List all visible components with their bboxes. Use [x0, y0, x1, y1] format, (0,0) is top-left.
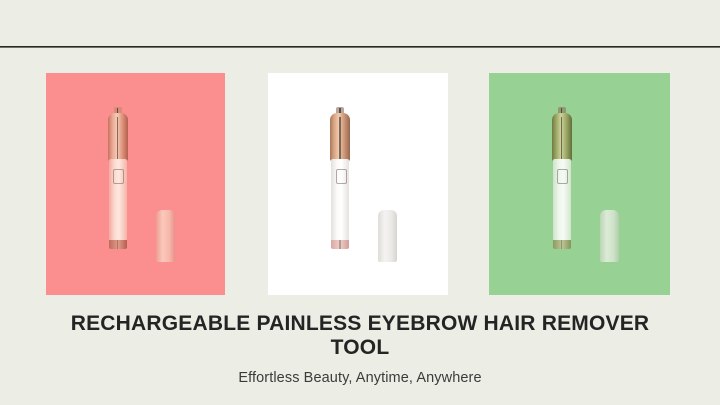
- product-panel-green[interactable]: [489, 73, 670, 295]
- power-button-icon: [557, 169, 568, 184]
- pen-body-group: [552, 107, 572, 249]
- pen-body-group: [108, 107, 128, 249]
- power-button-icon: [336, 169, 347, 184]
- page-subtitle: Effortless Beauty, Anytime, Anywhere: [0, 369, 720, 387]
- head-slit: [561, 117, 563, 159]
- header-divider: [0, 46, 720, 48]
- pen-body-group: [330, 107, 350, 249]
- eyebrow-trimmer-pen-icon: [46, 73, 225, 295]
- head-slit: [339, 117, 341, 159]
- power-button-icon: [113, 169, 124, 184]
- caption-block: RECHARGEABLE PAINLESS EYEBROW HAIR REMOV…: [0, 312, 720, 387]
- metallic-head: [330, 113, 350, 161]
- eyebrow-trimmer-pen-icon: [489, 73, 670, 295]
- trimmer-cap-icon: [156, 210, 175, 262]
- page-title: RECHARGEABLE PAINLESS EYEBROW HAIR REMOV…: [0, 312, 720, 360]
- metallic-head: [108, 113, 128, 161]
- metallic-head: [552, 113, 572, 161]
- product-slide: RECHARGEABLE PAINLESS EYEBROW HAIR REMOV…: [0, 0, 720, 405]
- trimmer-cap-icon: [378, 210, 397, 262]
- product-panel-pink[interactable]: [46, 73, 225, 295]
- product-panel-white[interactable]: [268, 73, 448, 295]
- eyebrow-trimmer-pen-icon: [268, 73, 448, 295]
- base-band: [553, 240, 571, 249]
- trimmer-cap-icon: [600, 210, 619, 262]
- head-slit: [117, 117, 119, 159]
- base-band: [331, 240, 349, 249]
- base-band: [109, 240, 127, 249]
- product-gallery: [46, 73, 670, 295]
